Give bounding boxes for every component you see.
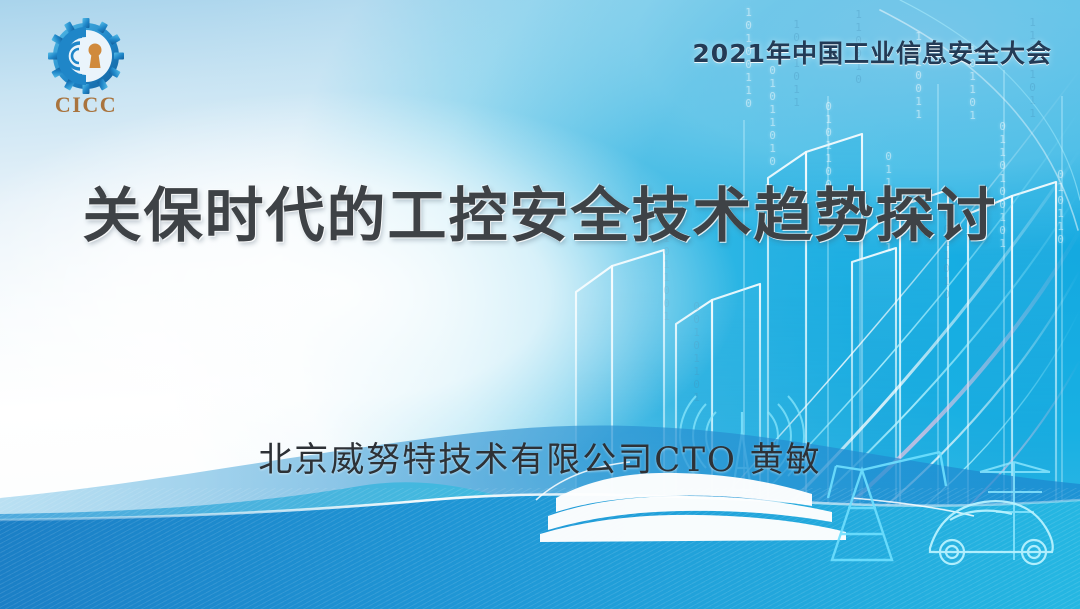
radio-tower-graphic bbox=[0, 0, 1080, 609]
hatched-ground-plane bbox=[0, 488, 1080, 609]
cicc-logo: CICC bbox=[38, 18, 134, 122]
background-sky-gradient bbox=[0, 0, 1080, 609]
slide-title: 关保时代的工控安全技术趋势探讨 bbox=[0, 178, 1080, 254]
slide-subtitle-presenter: 北京威努特技术有限公司CTO 黄敏 bbox=[0, 432, 1080, 481]
conference-name: 2021年中国工业信息安全大会 bbox=[692, 34, 1052, 70]
wireframe-skyline-graphic bbox=[0, 0, 1080, 609]
cicc-gear-icon bbox=[38, 18, 134, 94]
high-speed-train-graphic bbox=[0, 0, 1080, 609]
binary-column: 00101101 bbox=[690, 300, 703, 404]
presentation-slide: 10100110 01011010 1001011 0101100110 110… bbox=[0, 0, 1080, 609]
binary-column: 01011010 bbox=[766, 64, 779, 168]
wave-ribbons-graphic bbox=[0, 0, 1080, 609]
background-white-glow bbox=[0, 0, 1080, 609]
binary-data-streams: 10100110 01011010 1001011 0101100110 110… bbox=[0, 0, 1080, 609]
cicc-wordmark: CICC bbox=[38, 92, 134, 118]
light-streaks-graphic bbox=[0, 0, 1080, 609]
background-cyan-field bbox=[0, 0, 1080, 609]
background-blue-bloom bbox=[0, 0, 1080, 609]
industry-icons-graphic bbox=[0, 0, 1080, 609]
